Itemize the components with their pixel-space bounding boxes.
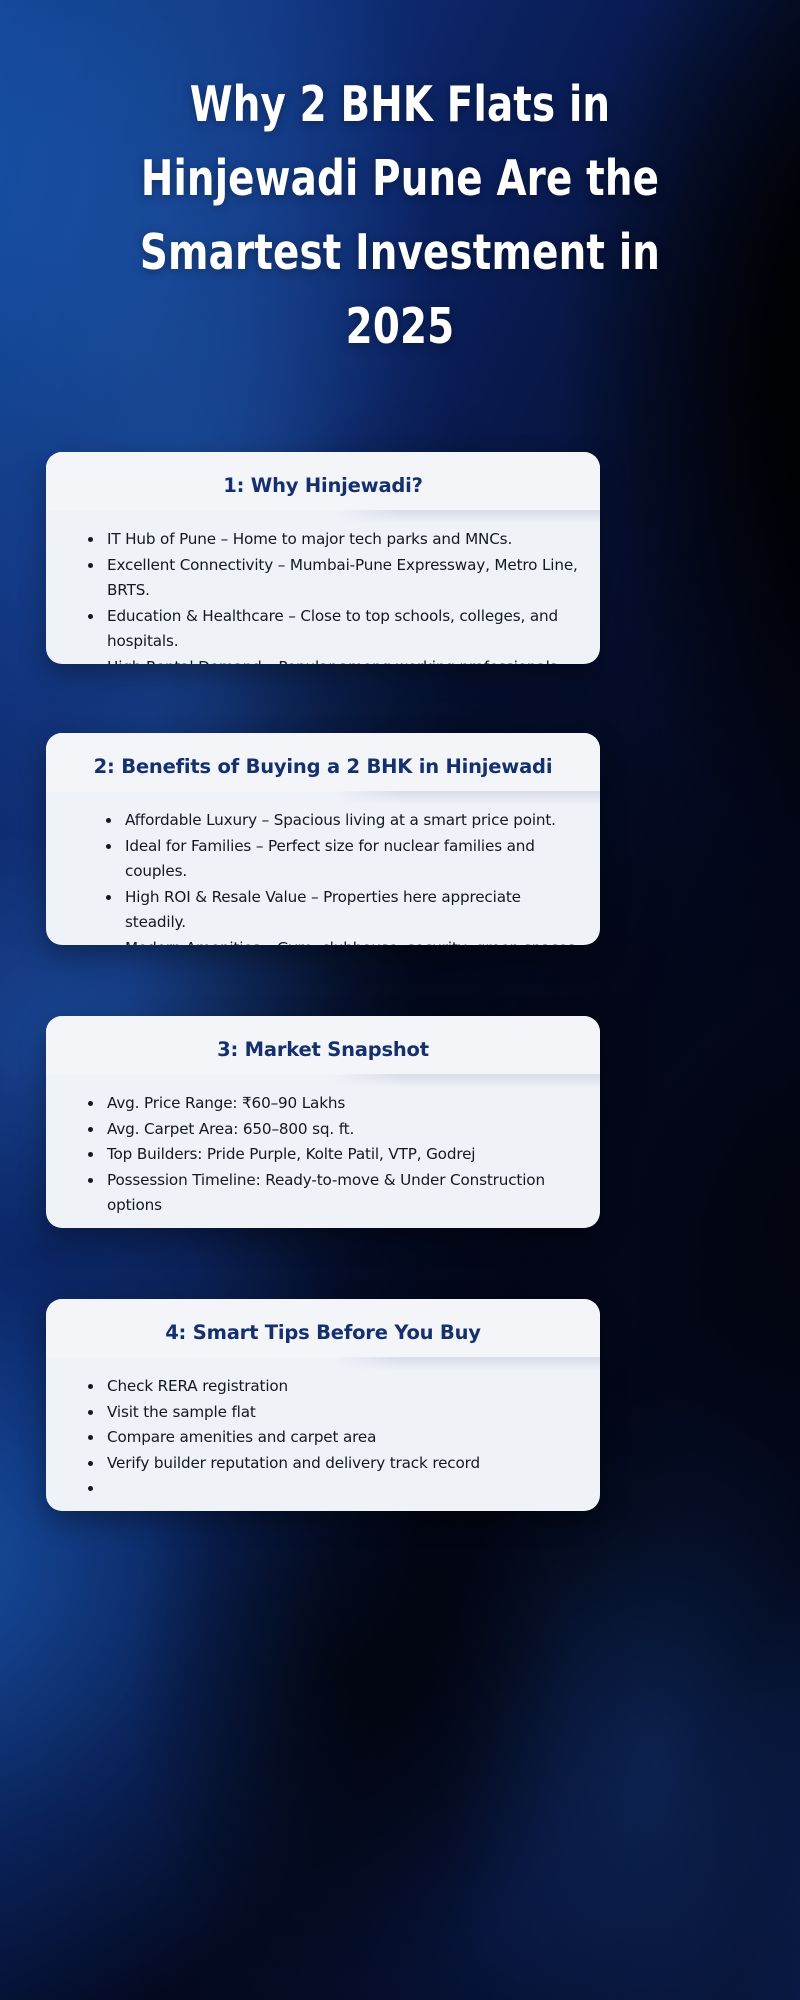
list-item: Avg. Price Range: ₹60–90 Lakhs	[86, 1091, 582, 1117]
list-item: Verify builder reputation and delivery t…	[86, 1451, 582, 1477]
list-item: Visit the sample flat	[86, 1400, 582, 1426]
list-item: High ROI & Resale Value – Properties her…	[104, 885, 582, 936]
list-item: Avg. Carpet Area: 650–800 sq. ft.	[86, 1117, 582, 1143]
list-item: Top Builders: Pride Purple, Kolte Patil,…	[86, 1142, 582, 1168]
page-title: Why 2 BHK Flats in Hinjewadi Pune Are th…	[110, 68, 691, 364]
section-heading-2: 2: Benefits of Buying a 2 BHK in Hinjewa…	[46, 733, 600, 792]
section-bullet-list-1: IT Hub of Pune – Home to major tech park…	[46, 511, 600, 664]
section-bullet-list-4: Check RERA registration Visit the sample…	[46, 1358, 600, 1511]
list-item: Modern Amenities – Gym, clubhouse, secur…	[104, 936, 582, 946]
list-item: Compare amenities and carpet area	[86, 1425, 582, 1451]
section-card-3: 3: Market Snapshot Avg. Price Range: ₹60…	[46, 1016, 600, 1228]
section-bullet-list-2: Affordable Luxury – Spacious living at a…	[46, 792, 600, 945]
section-card-2: 2: Benefits of Buying a 2 BHK in Hinjewa…	[46, 733, 600, 945]
list-item: Possession Timeline: Ready-to-move & Und…	[86, 1168, 582, 1219]
section-bullet-list-3: Avg. Price Range: ₹60–90 Lakhs Avg. Carp…	[46, 1075, 600, 1228]
list-item: High Rental Demand – Popular among worki…	[86, 655, 582, 665]
list-item: Ideal for Families – Perfect size for nu…	[104, 834, 582, 885]
infographic-page: Why 2 BHK Flats in Hinjewadi Pune Are th…	[0, 0, 800, 2000]
list-item: Education & Healthcare – Close to top sc…	[86, 604, 582, 655]
section-heading-1: 1: Why Hinjewadi?	[46, 452, 600, 511]
list-item: Check RERA registration	[86, 1374, 582, 1400]
section-card-1: 1: Why Hinjewadi? IT Hub of Pune – Home …	[46, 452, 600, 664]
section-heading-3: 3: Market Snapshot	[46, 1016, 600, 1075]
list-item: Affordable Luxury – Spacious living at a…	[104, 808, 582, 834]
section-card-4: 4: Smart Tips Before You Buy Check RERA …	[46, 1299, 600, 1511]
section-heading-4: 4: Smart Tips Before You Buy	[46, 1299, 600, 1358]
list-item: Excellent Connectivity – Mumbai-Pune Exp…	[86, 553, 582, 604]
list-item: IT Hub of Pune – Home to major tech park…	[86, 527, 582, 553]
list-item	[86, 1476, 582, 1501]
